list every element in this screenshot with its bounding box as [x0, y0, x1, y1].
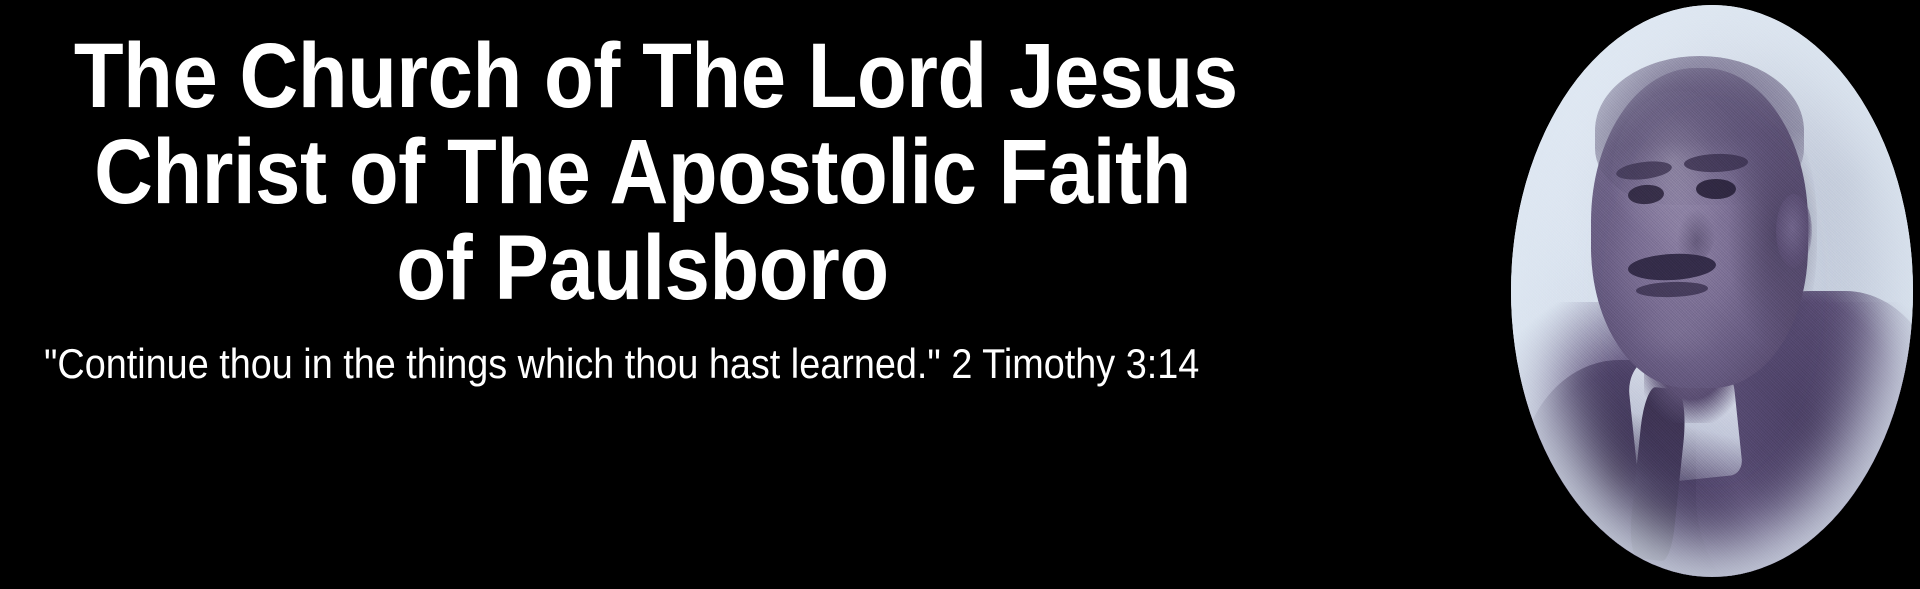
portrait-suit-right: [1696, 291, 1913, 577]
portrait-head-shadow: [1712, 108, 1817, 360]
portrait-nose: [1672, 194, 1716, 263]
portrait-moustache: [1627, 252, 1717, 283]
page-title-line-2: Christ of The Apostolic Faith: [74, 124, 1211, 220]
page-title-line-3: of Paulsboro: [74, 220, 1211, 316]
church-banner: The Church of The Lord Jesus Christ of T…: [0, 0, 1920, 589]
portrait-suit-left: [1519, 360, 1728, 577]
portrait-backdrop-shade: [1511, 5, 1913, 577]
portrait-ear: [1776, 194, 1812, 268]
portrait-shirt-collar: [1625, 349, 1742, 485]
portrait-backdrop: [1511, 5, 1913, 577]
portrait-mouth: [1635, 281, 1708, 298]
portrait-necktie: [1627, 386, 1689, 561]
portrait-head: [1591, 68, 1808, 388]
portrait-eyebrow-left: [1615, 159, 1673, 183]
portrait-eyebrow-right: [1684, 153, 1749, 174]
scripture-quote: "Continue thou in the things which thou …: [44, 338, 1124, 390]
portrait-neck: [1644, 320, 1740, 423]
portrait-suit: [1511, 302, 1913, 577]
portrait-head-highlight: [1612, 91, 1749, 263]
portrait-hair: [1595, 56, 1804, 205]
portrait-chin: [1624, 302, 1729, 371]
banner-text-block: The Church of The Lord Jesus Christ of T…: [0, 0, 1285, 589]
page-title-line-1: The Church of The Lord Jesus: [74, 28, 1211, 124]
portrait-film-grain: [1511, 5, 1913, 577]
founder-portrait: [1511, 5, 1913, 577]
portrait-oval-frame: [1511, 5, 1913, 577]
portrait-eye-right: [1696, 179, 1736, 200]
portrait-eye-left: [1627, 184, 1664, 206]
portrait-vignette: [1511, 5, 1913, 577]
